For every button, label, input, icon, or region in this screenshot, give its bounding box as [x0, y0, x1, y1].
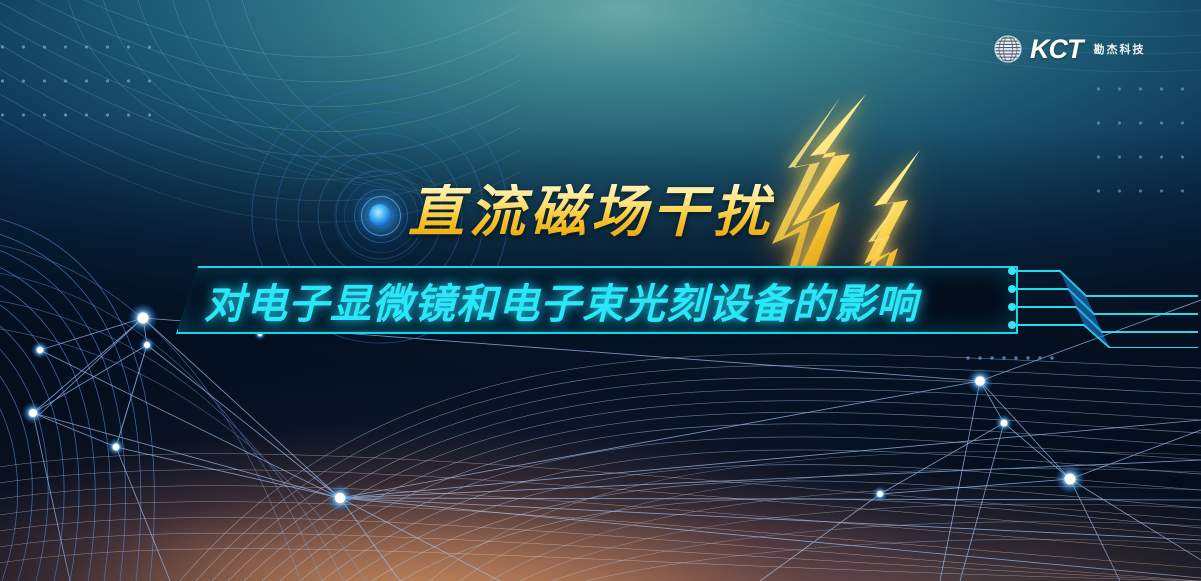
main-title: 直流磁场干扰	[408, 184, 774, 240]
subtitle-text: 对电子显微镜和电子束光刻设备的影响	[204, 270, 918, 330]
dot-grid-right	[1088, 72, 1201, 217]
banner-canvas: 直流磁场干扰 对电子显微镜和电子束光刻设备的影响	[0, 0, 1201, 581]
dot-grid-left	[0, 30, 168, 135]
subtitle-container: 对电子显微镜和电子束光刻设备的影响	[176, 266, 1018, 334]
right-connector-lines	[1008, 262, 1198, 348]
glow-node-core	[369, 204, 391, 226]
company-logo[interactable]: KCT 勘杰科技	[993, 31, 1146, 67]
glow-node-graphic	[352, 187, 408, 243]
logo-company-name: 勘杰科技	[1094, 41, 1146, 57]
striped-sphere-icon	[993, 34, 1023, 64]
logo-wordmark: KCT	[1030, 36, 1083, 63]
